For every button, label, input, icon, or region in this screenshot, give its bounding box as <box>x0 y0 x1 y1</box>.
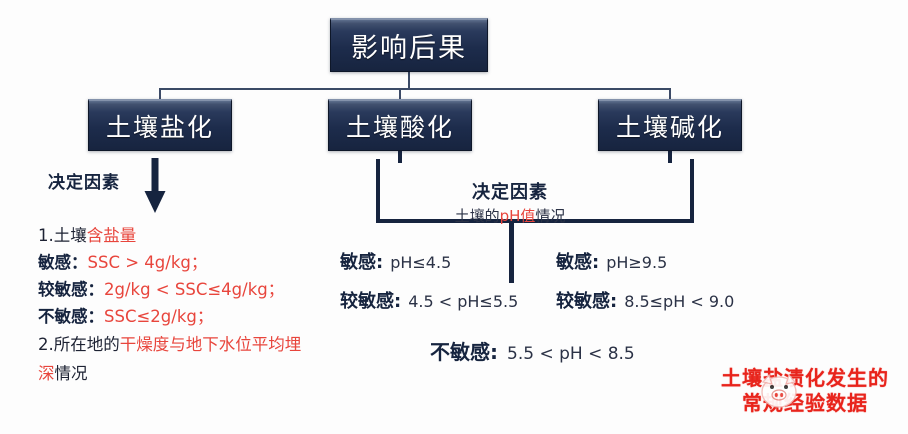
salinization-factor-list: 1.土壤含盐量 敏感：SSC > 4g/kg； 较敏感：2g/kg < SSC≤… <box>38 222 306 388</box>
alkali-criteria-label: 较敏感: <box>556 287 617 313</box>
salinization-row: 较敏感：2g/kg < SSC≤4g/kg； <box>38 276 306 303</box>
decide-factor-left-title: 决定因素 <box>48 168 120 193</box>
subtitle-highlight: pH值 <box>500 207 536 225</box>
shared-insensitive-value: 5.5 < pH < 8.5 <box>507 344 635 364</box>
connector-root-stem <box>408 72 410 89</box>
shared-insensitive-row: 不敏感: 5.5 < pH < 8.5 <box>430 336 635 365</box>
alkali-criteria-list: 敏感: pH≥9.5 较敏感: 8.5≤pH < 9.0 <box>556 248 772 326</box>
factor-item-2-prefix: 2.所在地的 <box>38 335 120 354</box>
diagram-canvas: 影响后果 土壤盐化 土壤酸化 土壤碱化 决定因素 土壤的pH值情况 决定因素 1… <box>0 0 908 434</box>
node-salinization: 土壤盐化 <box>88 99 232 151</box>
factor-item-1-highlight: 含盐量 <box>87 226 137 245</box>
subtitle-suffix: 情况 <box>535 207 565 225</box>
acid-criteria-value: pH≤4.5 <box>390 253 451 272</box>
decide-factor-middle-subtitle: 土壤的pH值情况 <box>400 205 620 226</box>
acid-criteria-label: 较敏感: <box>340 287 401 313</box>
decide-factor-middle-title: 决定因素 <box>400 178 620 204</box>
node-alkalization: 土壤碱化 <box>598 99 742 151</box>
salinization-row-label: 敏感： <box>38 253 88 272</box>
salinization-row-label: 不敏感： <box>38 307 104 326</box>
salinization-row-label: 较敏感： <box>38 280 104 299</box>
acid-criteria-row: 敏感: pH≤4.5 <box>334 248 526 274</box>
connector-horizontal-bus <box>159 88 671 90</box>
node-root: 影响后果 <box>330 18 488 72</box>
alkali-criteria-row: 较敏感: 8.5≤pH < 9.0 <box>556 287 772 313</box>
acid-criteria-value: 4.5 < pH≤5.5 <box>408 292 518 311</box>
pig-face-logo-icon <box>756 367 802 413</box>
factor-item-1: 1.土壤含盐量 <box>38 222 306 249</box>
salinization-row-value: SSC > 4g/kg； <box>88 253 208 272</box>
factor-item-2: 2.所在地的干燥度与地下水位平均埋深情况 <box>38 330 306 388</box>
salinization-row: 不敏感：SSC≤2g/kg； <box>38 303 306 330</box>
acid-criteria-label: 敏感: <box>340 248 383 274</box>
alkali-criteria-value: pH≥9.5 <box>606 253 667 272</box>
alkali-criteria-row: 敏感: pH≥9.5 <box>556 248 772 274</box>
watermark: 土壤盐渍化发生的 常规经验数据 <box>712 366 898 428</box>
watermark-line-1: 土壤盐渍化发生的 <box>712 366 898 391</box>
acid-criteria-row: 较敏感: 4.5 < pH≤5.5 <box>334 287 526 313</box>
salinization-row: 敏感：SSC > 4g/kg； <box>38 249 306 276</box>
acid-criteria-list: 敏感: pH≤4.5 较敏感: 4.5 < pH≤5.5 <box>334 248 526 326</box>
alkali-criteria-value: 8.5≤pH < 9.0 <box>624 292 734 311</box>
shared-insensitive-label: 不敏感: <box>430 336 498 365</box>
watermark-line-2: 常规经验数据 <box>712 391 898 416</box>
alkali-criteria-label: 敏感: <box>556 248 599 274</box>
factor-item-1-number: 1.土壤 <box>38 226 87 245</box>
factor-item-2-suffix: 情况 <box>55 364 88 383</box>
salinization-row-value: SSC≤2g/kg； <box>104 307 213 326</box>
salinization-row-value: 2g/kg < SSC≤4g/kg； <box>104 280 284 299</box>
node-acidification: 土壤酸化 <box>328 99 472 151</box>
subtitle-prefix: 土壤的 <box>455 207 500 225</box>
decide-factor-middle: 决定因素 土壤的pH值情况 <box>400 178 620 226</box>
arrow-down-icon <box>143 158 167 214</box>
